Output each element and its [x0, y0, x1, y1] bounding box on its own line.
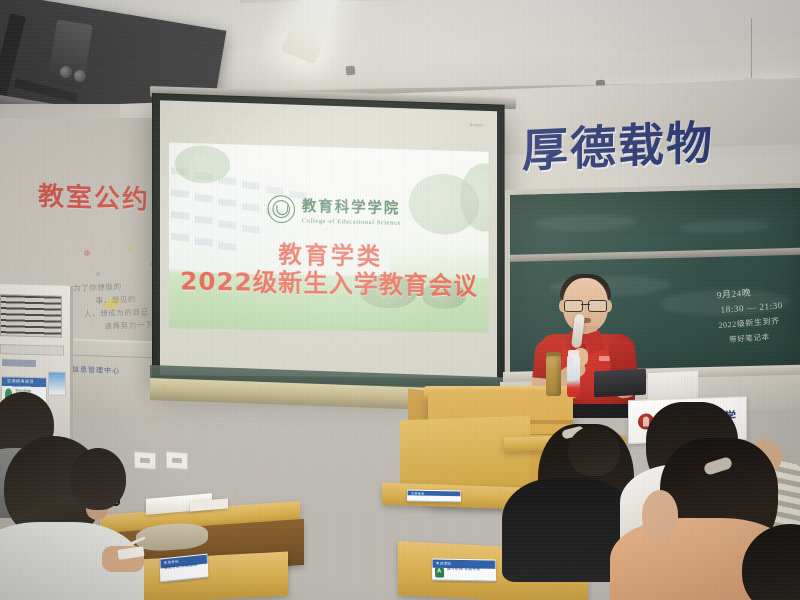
- desk-notice-sticker: 考风考纪 诚信考试 从我做起: [160, 554, 209, 583]
- ac-panel: [0, 344, 64, 356]
- student: [568, 426, 628, 486]
- student: [70, 448, 140, 558]
- desk-notice-sticker: 考试须知 遵守纪律 认真作答: [432, 558, 496, 581]
- wall-decal: [96, 272, 100, 276]
- ac-vent-grille: [0, 294, 62, 338]
- photo-washout-overlay: [169, 142, 489, 332]
- cabinet-label: 信息管理中心: [72, 364, 120, 376]
- ceiling-fitting-icon: [346, 66, 356, 76]
- slide-org-name-en: College of Educational Science: [302, 218, 401, 227]
- desk-notice-sticker: 文明考场: [407, 490, 461, 503]
- hanging-wire: [751, 18, 752, 80]
- wall-banner-right: 厚德载物: [522, 99, 800, 184]
- student-head: [568, 426, 620, 476]
- grade-a-icon: [435, 567, 444, 577]
- university-seal-icon: [268, 195, 295, 223]
- mount-knob: [74, 70, 86, 82]
- projector-screen: Screen: [152, 93, 505, 386]
- blackboard-divider: [510, 248, 800, 262]
- eyeglasses-icon: [563, 300, 608, 310]
- power-outlet[interactable]: [166, 451, 188, 470]
- slide-title-line-2: 2022级新生入学教育会议: [169, 267, 489, 302]
- wall-banner-left: 教室公约: [38, 176, 169, 221]
- classroom-photo: 厚德载物 教室公约 为了你想做的 事、想见的 人、想成为的自己 请再努力一下 信…: [0, 0, 800, 600]
- blackboard-chalk-notes: 9月24晚 18:30 — 21:30 2022级新生到齐 带好笔记本: [716, 282, 800, 348]
- wall-decal: [128, 246, 133, 251]
- screen-brand-tag: Screen: [470, 122, 484, 127]
- slide-logo: 教育科学学院 College of Educational Science: [268, 193, 430, 228]
- student-face: [642, 490, 678, 540]
- sticker-title: 文明考场: [408, 491, 460, 497]
- student-head: [742, 524, 800, 600]
- wall-banner-right-text: 厚德载物: [522, 106, 714, 181]
- ac-display: [2, 359, 36, 367]
- wall-decal: [84, 250, 90, 256]
- podium-equipment-box: [594, 369, 646, 398]
- screen-surface: Screen: [160, 100, 497, 378]
- slide-org-name-cn: 教育科学学院: [302, 195, 401, 218]
- ac-sticker-title: 空调使用规范: [7, 378, 34, 385]
- thermos-flask[interactable]: [546, 356, 561, 396]
- mount-knob: [60, 66, 72, 78]
- student: [742, 524, 800, 600]
- water-bottle[interactable]: [567, 355, 580, 397]
- student-head: [70, 448, 126, 510]
- slide-title: 教育学类 2022级新生入学教育会议: [169, 238, 489, 301]
- slide-background-photo: 教育科学学院 College of Educational Science 教育…: [169, 142, 489, 332]
